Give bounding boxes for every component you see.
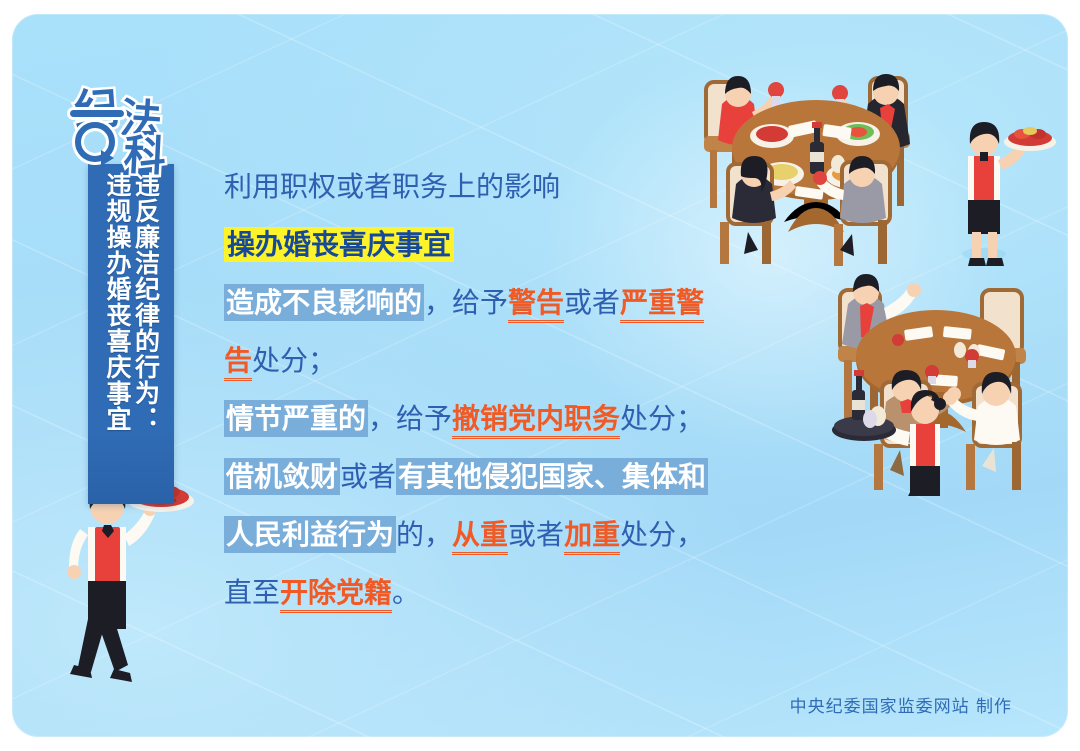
line7-plain-1: 的，: [396, 518, 452, 551]
penalty-heavier: 从重: [452, 518, 508, 555]
line7-plain-3: 处分，: [620, 518, 704, 551]
line6-highlight-blue-2: 有其他侵犯国家、集体和: [396, 458, 708, 495]
text-line-1: 利用职权或者职务上的影响: [224, 158, 744, 216]
line5-plain-2: 处分；: [620, 402, 704, 435]
text-line-2: 操办婚丧喜庆事宜: [224, 216, 744, 274]
highlight-yellow-phrase: 操办婚丧喜庆事宜: [224, 227, 454, 262]
waitress-with-tray: [962, 122, 1056, 266]
line7-plain-2: 或者: [508, 518, 564, 551]
vertical-banner: 违反廉洁纪律的行为： 违规操办婚丧喜庆事宜: [88, 164, 174, 504]
line3-plain-1: ，给予: [424, 286, 508, 319]
line7-highlight-blue: 人民利益行为: [224, 516, 396, 553]
waiter-figure: [67, 483, 194, 682]
poster-card: 违反廉洁纪律的行为： 违规操办婚丧喜庆事宜 纪 法 科 利用职权或者职务上的影响…: [12, 14, 1068, 737]
vertical-banner-text: 违反廉洁纪律的行为： 违规操办婚丧喜庆事宜: [88, 164, 174, 504]
line6-plain-1: 或者: [340, 460, 396, 493]
footer-credit: 中央纪委国家监委网站 制作: [790, 692, 1012, 717]
logo-jifa-baike: 纪 法 科: [68, 72, 186, 172]
illustration-banquet-bottom: [764, 264, 1064, 496]
text-line-7: 人民利益行为的，从重或者加重处分，: [224, 506, 744, 564]
text-line-5: 情节严重的，给予撤销党内职务处分；: [224, 390, 744, 448]
logo-char-ke: 科: [122, 121, 167, 184]
illustration-banquet-top: [692, 64, 1064, 276]
line8-plain-2: 。: [392, 576, 420, 609]
penalty-serious-warning-part1: 严重警: [620, 286, 704, 323]
poster-root: 违反廉洁纪律的行为： 违规操办婚丧喜庆事宜 纪 法 科 利用职权或者职务上的影响…: [0, 0, 1080, 751]
line5-highlight-blue: 情节严重的: [224, 400, 368, 437]
penalty-serious-warning-part2: 告: [224, 344, 252, 381]
banner-column-right: 违反廉洁纪律的行为：: [132, 172, 159, 504]
line5-plain-1: ，给予: [368, 402, 452, 435]
line1-seg1: 利用职权或者职务上的影响: [224, 170, 560, 203]
text-line-6: 借机敛财或者有其他侵犯国家、集体和: [224, 448, 744, 506]
play-triangle-icon: [101, 150, 114, 166]
penalty-increased: 加重: [564, 518, 620, 555]
regulation-text-block: 利用职权或者职务上的影响 操办婚丧喜庆事宜 造成不良影响的，给予警告或者严重警 …: [224, 158, 744, 622]
penalty-expulsion: 开除党籍: [280, 576, 392, 613]
text-line-8: 直至开除党籍。: [224, 564, 744, 622]
play-circle-icon: [75, 122, 115, 162]
logo-bai-top-stroke: [70, 110, 124, 117]
line3-plain-2: 或者: [564, 286, 620, 319]
line8-plain-1: 直至: [224, 576, 280, 609]
line3-highlight-blue: 造成不良影响的: [224, 284, 424, 321]
penalty-warning: 警告: [508, 286, 564, 323]
logo-char-bai-play: [72, 112, 122, 164]
penalty-removal-party-post: 撤销党内职务: [452, 402, 620, 439]
banner-column-left: 违规操办婚丧喜庆事宜: [104, 172, 131, 504]
line6-highlight-blue-1: 借机敛财: [224, 458, 340, 495]
text-line-4: 告处分；: [224, 332, 744, 390]
line4-plain-1: 处分；: [252, 344, 336, 377]
text-line-3: 造成不良影响的，给予警告或者严重警: [224, 274, 744, 332]
